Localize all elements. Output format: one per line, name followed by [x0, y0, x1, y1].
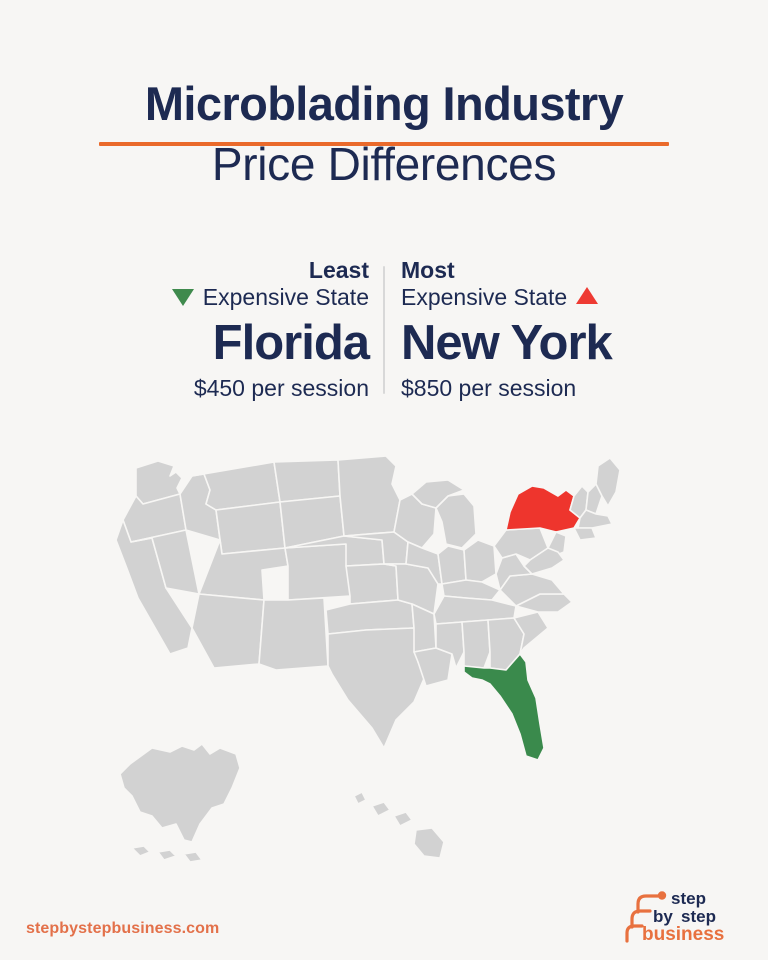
most-state-name: New York	[401, 316, 665, 371]
most-expensive-panel: Most Expensive State New York $850 per s…	[385, 258, 665, 403]
state-wyoming	[216, 502, 285, 554]
us-map-svg	[96, 448, 676, 898]
least-state-name: Florida	[103, 316, 369, 371]
state-new-mexico	[259, 598, 328, 670]
price-comparison: Least Expensive State Florida $450 per s…	[0, 258, 768, 403]
triangle-down-icon	[172, 289, 194, 306]
page-title: Microblading Industry Price Differences	[0, 78, 768, 191]
state-florida	[464, 654, 544, 760]
triangle-up-icon	[576, 287, 598, 304]
state-arizona	[192, 594, 264, 668]
most-state-price: $850 per session	[401, 375, 665, 403]
state-kansas	[346, 564, 398, 604]
brand-logo-svg: step by step business	[624, 889, 750, 947]
state-north-dakota	[274, 460, 340, 502]
state-hawaii	[354, 792, 444, 858]
most-kicker: Most	[401, 258, 665, 284]
title-line-1: Microblading Industry	[145, 78, 623, 132]
least-expensive-panel: Least Expensive State Florida $450 per s…	[103, 258, 383, 403]
state-indiana	[438, 546, 466, 584]
state-ohio	[464, 540, 496, 582]
map-states	[116, 456, 620, 862]
infographic-page: Microblading Industry Price Differences …	[0, 0, 768, 960]
title-underline-accent	[99, 142, 669, 146]
state-minnesota	[338, 456, 400, 536]
least-kicker: Least	[103, 258, 369, 284]
united-states-map	[96, 448, 676, 898]
logo-word-business: business	[642, 924, 724, 945]
least-state-price: $450 per session	[103, 375, 369, 403]
least-subtitle-row: Expensive State	[103, 284, 369, 310]
site-url[interactable]: stepbystepbusiness.com	[26, 920, 219, 938]
most-subtitle: Expensive State	[401, 284, 567, 310]
most-subtitle-row: Expensive State	[401, 284, 665, 310]
logo-word-step-1: step	[671, 889, 706, 908]
brand-logo[interactable]: step by step business	[624, 889, 750, 947]
logo-dot-icon	[658, 891, 666, 899]
alaska-aleutian-islands	[132, 846, 202, 862]
state-texas	[328, 628, 426, 748]
state-connecticut	[574, 528, 596, 540]
state-alabama	[462, 620, 490, 668]
state-colorado	[285, 544, 350, 600]
state-new-york	[506, 486, 580, 532]
least-subtitle: Expensive State	[203, 284, 369, 310]
state-alaska	[120, 744, 240, 842]
